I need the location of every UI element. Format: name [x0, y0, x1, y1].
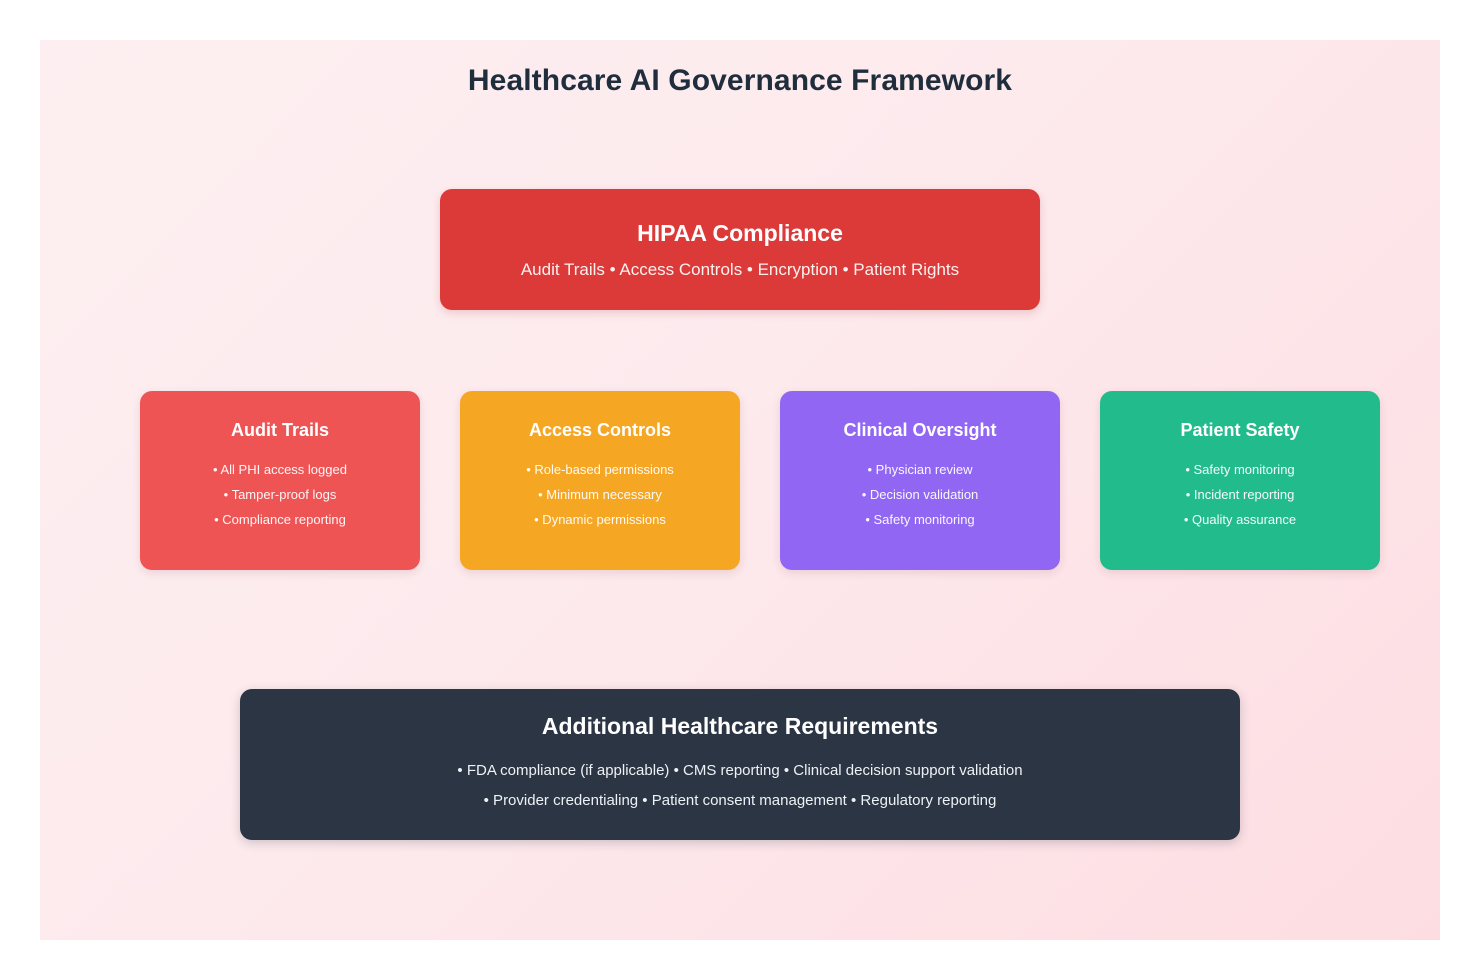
- hipaa-card-subtitle: Audit Trails • Access Controls • Encrypt…: [521, 260, 959, 280]
- page-title: Healthcare AI Governance Framework: [40, 64, 1440, 98]
- pillar-title: Clinical Oversight: [843, 420, 996, 441]
- pillar-card-access-controls[interactable]: Access Controls • Role-based permissions…: [460, 391, 740, 570]
- pillar-card-row: Audit Trails • All PHI access logged • T…: [140, 391, 1380, 570]
- pillar-item: • Minimum necessary: [538, 482, 662, 507]
- pillar-title: Patient Safety: [1180, 420, 1299, 441]
- additional-requirements-line-1: • FDA compliance (if applicable) • CMS r…: [457, 756, 1022, 786]
- pillar-item: • Incident reporting: [1186, 482, 1295, 507]
- additional-requirements-line-2: • Provider credentialing • Patient conse…: [484, 786, 997, 816]
- additional-requirements-card[interactable]: Additional Healthcare Requirements • FDA…: [240, 689, 1240, 840]
- pillar-card-clinical-oversight[interactable]: Clinical Oversight • Physician review • …: [780, 391, 1060, 570]
- pillar-item: • Tamper-proof logs: [224, 482, 337, 507]
- pillar-card-audit-trails[interactable]: Audit Trails • All PHI access logged • T…: [140, 391, 420, 570]
- additional-requirements-title: Additional Healthcare Requirements: [542, 713, 938, 740]
- pillar-item: • Safety monitoring: [1185, 457, 1294, 482]
- pillar-card-patient-safety[interactable]: Patient Safety • Safety monitoring • Inc…: [1100, 391, 1380, 570]
- diagram-canvas: Healthcare AI Governance Framework HIPAA…: [40, 40, 1440, 940]
- pillar-title: Access Controls: [529, 420, 671, 441]
- pillar-item: • Dynamic permissions: [534, 507, 666, 532]
- hipaa-compliance-card[interactable]: HIPAA Compliance Audit Trails • Access C…: [440, 189, 1040, 310]
- pillar-title: Audit Trails: [231, 420, 329, 441]
- pillar-item: • All PHI access logged: [213, 457, 347, 482]
- pillar-item: • Quality assurance: [1184, 507, 1296, 532]
- pillar-item: • Physician review: [868, 457, 973, 482]
- pillar-item: • Decision validation: [862, 482, 979, 507]
- pillar-item: • Role-based permissions: [526, 457, 674, 482]
- hipaa-card-title: HIPAA Compliance: [637, 220, 843, 247]
- pillar-item: • Safety monitoring: [865, 507, 974, 532]
- pillar-item: • Compliance reporting: [214, 507, 346, 532]
